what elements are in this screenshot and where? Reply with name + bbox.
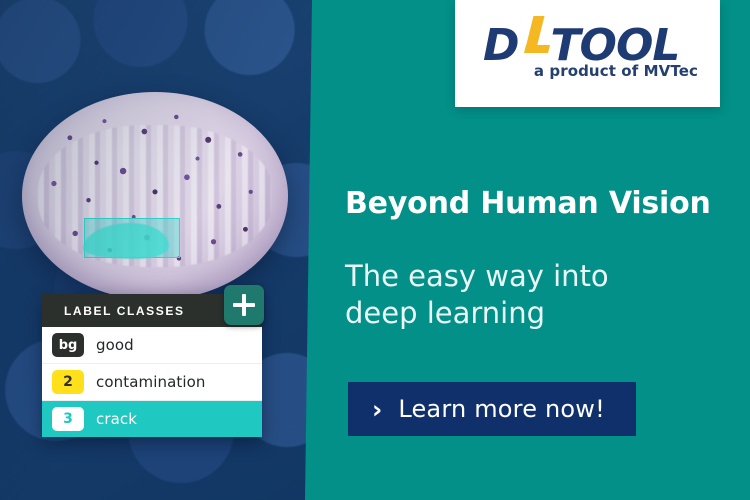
class-name: good bbox=[96, 336, 134, 354]
dl-tool-promo-banner: LABEL CLASSES bg good 2 contamination 3 … bbox=[0, 0, 750, 500]
tablet-speckles bbox=[22, 92, 288, 300]
plus-icon bbox=[233, 294, 255, 316]
class-badge: 2 bbox=[52, 370, 84, 394]
learn-more-button[interactable]: › Learn more now! bbox=[348, 382, 636, 436]
crack-annotation-mask bbox=[83, 223, 169, 259]
chevron-right-icon: › bbox=[372, 397, 382, 422]
add-label-class-button[interactable] bbox=[224, 285, 264, 325]
label-class-row-contamination[interactable]: 2 contamination bbox=[42, 364, 262, 401]
class-name: contamination bbox=[96, 373, 206, 391]
subheadline: The easy way into deep learning bbox=[345, 258, 675, 332]
crack-annotation-box[interactable] bbox=[84, 218, 180, 258]
dl-tool-logo: D TOOL bbox=[483, 16, 679, 68]
tablet-image bbox=[22, 92, 288, 300]
logo-card: D TOOL a product of MVTec bbox=[455, 0, 720, 107]
logo-tagline: a product of MVTec bbox=[534, 62, 698, 80]
label-classes-title: LABEL CLASSES bbox=[42, 304, 185, 318]
class-badge: 3 bbox=[52, 407, 84, 431]
learn-more-label: Learn more now! bbox=[398, 395, 605, 423]
label-class-row-crack[interactable]: 3 crack bbox=[42, 401, 262, 437]
label-class-row-good[interactable]: bg good bbox=[42, 327, 262, 364]
class-badge: bg bbox=[52, 333, 84, 357]
class-name: crack bbox=[96, 410, 137, 428]
label-classes-panel: LABEL CLASSES bg good 2 contamination 3 … bbox=[42, 294, 262, 437]
logo-l-mark-icon bbox=[520, 16, 550, 60]
headline: Beyond Human Vision bbox=[345, 186, 735, 221]
logo-word-d: D bbox=[483, 24, 519, 68]
label-classes-header: LABEL CLASSES bbox=[42, 294, 262, 327]
